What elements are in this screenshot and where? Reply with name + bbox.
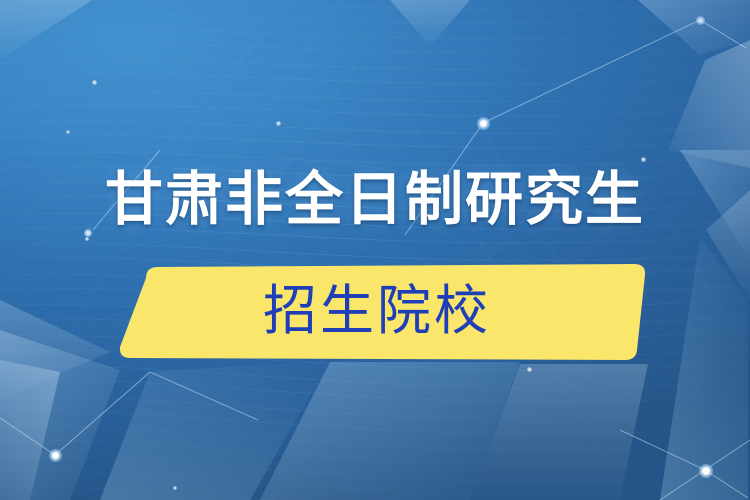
glow-node-7 [276, 121, 281, 126]
glow-node-3 [699, 464, 713, 478]
glow-node-1 [477, 117, 490, 130]
glow-node-5 [696, 16, 705, 25]
glow-node-6 [92, 80, 97, 85]
glow-node-12 [173, 486, 177, 490]
glow-node-8 [641, 157, 646, 162]
headline-text: 甘肃非全日制研究生 [105, 168, 645, 230]
glow-node-4 [84, 229, 92, 237]
glow-node-9 [527, 367, 532, 372]
glow-node-2 [49, 449, 62, 462]
promo-banner: 甘肃非全日制研究生 招生院校 [0, 0, 750, 500]
ribbon-banner: 招生院校 [118, 264, 648, 361]
banner-headline: 甘肃非全日制研究生 [0, 168, 750, 230]
glow-nodes-layer [0, 0, 750, 500]
glow-node-11 [66, 130, 70, 134]
glow-node-10 [85, 237, 89, 241]
ribbon-shape-icon [118, 264, 648, 361]
